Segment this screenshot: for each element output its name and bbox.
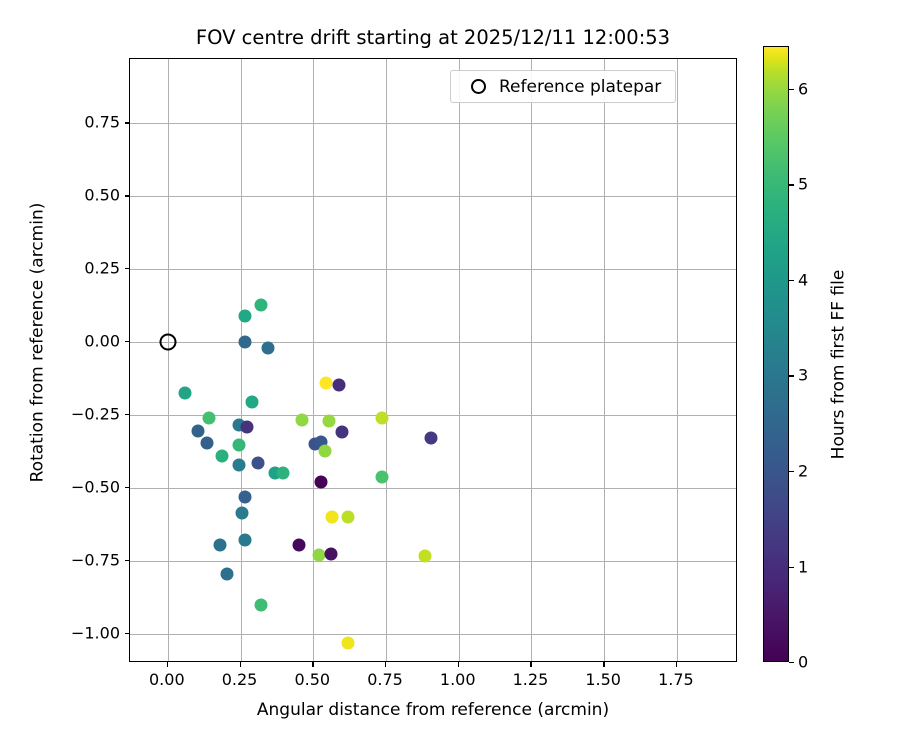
colorbar-tick [789,567,794,568]
x-axis-label: Angular distance from reference (arcmin) [129,700,737,721]
y-axis-ticklabel: 0.50 [50,186,120,205]
legend-open-circle-icon [471,79,486,94]
legend-label-reference-platepar: Reference platepar [499,77,665,97]
y-axis-ticklabel: −0.75 [50,550,120,569]
colorbar-tick [789,375,794,376]
y-axis-ticklabel: −0.25 [50,404,120,423]
colorbar-label: Hours from first FF file [829,205,850,525]
x-axis-ticklabel: 1.50 [563,670,643,689]
colorbar-ticklabel: 3 [798,366,808,385]
colorbar-ticklabel: 6 [798,79,808,98]
colorbar: 0123456 [763,46,789,662]
y-axis-tick [125,487,130,488]
colorbar-ticklabel: 1 [798,557,808,576]
plot-area [129,58,737,662]
x-axis-ticklabel: 1.25 [490,670,570,689]
reference-point-layer [130,59,736,661]
y-axis-tick [125,195,130,196]
y-axis-ticklabel: −1.00 [50,623,120,642]
y-axis-tick [125,414,130,415]
colorbar-ticklabel: 4 [798,270,808,289]
colorbar-tick [789,89,794,90]
x-axis-tick [676,662,677,667]
colorbar-ticklabel: 5 [798,175,808,194]
y-axis-label: Rotation from reference (arcmin) [28,183,49,503]
x-axis-ticklabel: 1.00 [418,670,498,689]
colorbar-tick [789,662,794,663]
x-axis-ticklabel: 0.25 [200,670,280,689]
y-axis-ticklabel: 0.75 [50,113,120,132]
figure: FOV centre drift starting at 2025/12/11 … [0,0,900,750]
colorbar-tick [789,280,794,281]
x-axis-ticklabel: 0.75 [345,670,425,689]
reference-platepar-marker [159,334,176,351]
colorbar-ticklabel: 0 [798,653,808,672]
x-axis-ticklabel: 0.00 [127,670,207,689]
x-axis-ticklabel: 1.75 [636,670,716,689]
x-axis-tick [167,662,168,667]
x-axis-tick [458,662,459,667]
colorbar-gradient [763,46,789,662]
y-axis-tick [125,268,130,269]
colorbar-tick [789,184,794,185]
x-axis-tick [240,662,241,667]
y-axis-ticklabel: −0.50 [50,477,120,496]
y-axis-ticklabels: 0.750.500.250.00−0.25−0.50−0.75−1.00 [48,0,120,750]
legend: Reference platepar [450,70,676,103]
y-axis-tick [125,633,130,634]
x-axis-ticklabel: 0.50 [272,670,352,689]
y-axis-ticklabel: 0.25 [50,259,120,278]
x-axis-tick [385,662,386,667]
x-axis-tick [530,662,531,667]
x-axis-tick [603,662,604,667]
y-axis-tick [125,122,130,123]
x-axis-tick [312,662,313,667]
chart-title: FOV centre drift starting at 2025/12/11 … [129,26,737,50]
y-axis-ticklabel: 0.00 [50,332,120,351]
y-axis-tick [125,341,130,342]
colorbar-ticklabel: 2 [798,461,808,480]
colorbar-tick [789,471,794,472]
y-axis-tick [125,560,130,561]
